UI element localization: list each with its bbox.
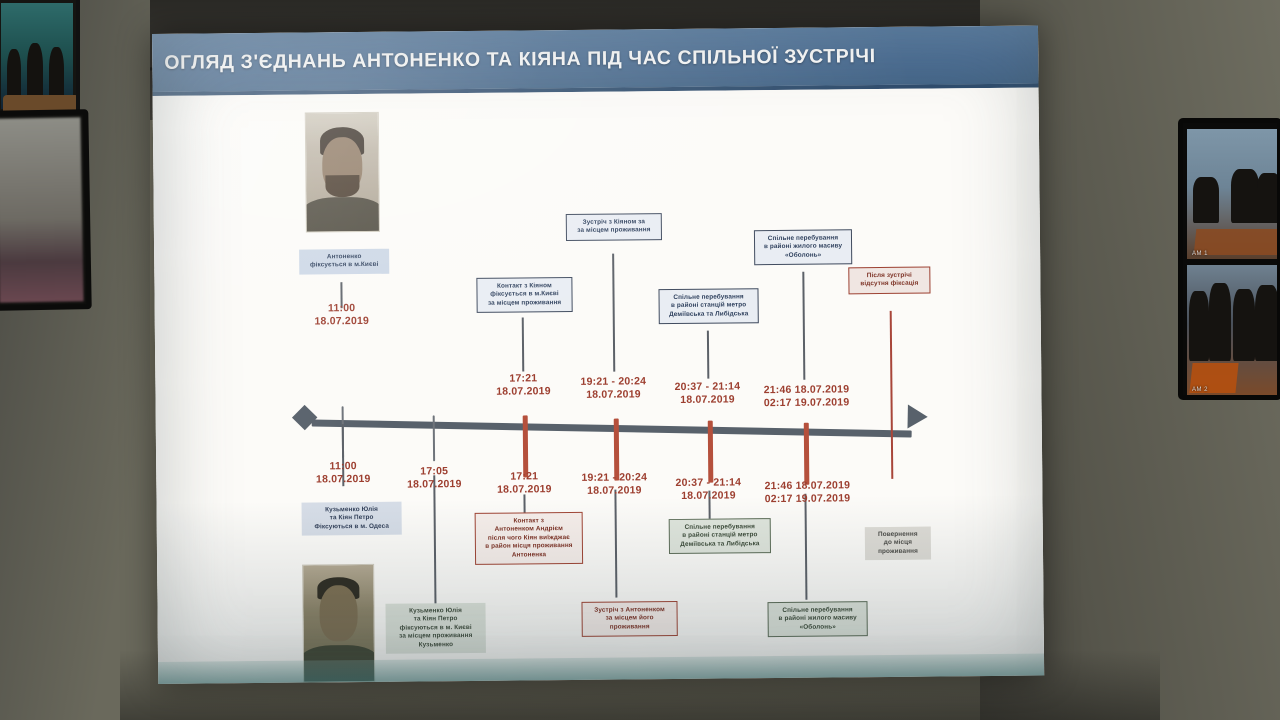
note-obolon-bottom: Спільне перебування в районі жилого маси… — [767, 601, 867, 637]
tick-5 — [708, 421, 714, 483]
leader-a2 — [522, 317, 524, 371]
note-contact-antonenko: Контакт з Антоненком Андрієм після чого … — [475, 512, 583, 565]
date-value: 18.07.2019 — [562, 484, 666, 498]
time-label-bottom-3: 17:21 18.07.2019 — [478, 470, 570, 497]
note-no-fixation-after: Після зустрічі відсутня фіксація — [848, 267, 930, 295]
note-line: в районі жилого масиву — [760, 243, 846, 252]
cctv-pane-2: AM 2 — [1187, 265, 1280, 395]
tick-2 — [433, 415, 435, 461]
time-value: 17:21 — [478, 470, 570, 484]
note-metro-area-bottom: Спільне перебування в районі станцій мет… — [669, 518, 771, 554]
time-value: 17:05 — [388, 465, 480, 479]
time-label-top-2: 17:21 18.07.2019 — [477, 372, 569, 399]
leader-b2 — [433, 475, 436, 605]
time-label-top-1: 11:00 18.07.2019 — [296, 302, 388, 329]
note-line: в район місця проживання — [481, 542, 577, 551]
note-meeting-kiyan: Зустріч з Кіяном за за місцем проживання — [566, 213, 662, 241]
note-meeting-antonenko: Зустріч з Антоненком за місцем його прож… — [581, 601, 677, 637]
cctv-monitor: AM 1 AM 2 — [1178, 118, 1280, 400]
note-line: за місцем проживання — [483, 299, 567, 308]
leader-b4 — [614, 490, 617, 598]
time-label-bottom-6: 21:46 18.07.2019 02:17 19.07.2019 — [750, 479, 864, 506]
leader-a4 — [707, 331, 709, 379]
date-value: 18.07.2019 — [297, 473, 389, 487]
projection-screen: ОГЛЯД З'ЄДНАНЬ АНТОНЕНКО ТА КІЯНА ПІД ЧА… — [152, 25, 1044, 683]
time-label-bottom-1: 11:00 18.07.2019 — [297, 460, 389, 487]
time-label-bottom-4: 19:21 - 20:24 18.07.2019 — [562, 471, 666, 498]
time-value: 20:37 - 21:14 — [655, 380, 759, 394]
tick-3 — [523, 415, 529, 477]
note-line: в районі жилого масиву — [774, 615, 862, 624]
time-value: 21:46 18.07.2019 — [749, 383, 863, 397]
note-line: за місцем проживання — [572, 227, 656, 236]
note-line: проживання — [588, 623, 672, 632]
note-metro-area-top: Спільне перебування в районі станцій мет… — [658, 288, 758, 324]
courtroom-scene: AM 1 AM 2 ОГЛЯД З'ЄДНАНЬ АНТОНЕНКО ТА КІ… — [0, 0, 1280, 720]
slide-title-bar: ОГЛЯД З'ЄДНАНЬ АНТОНЕНКО ТА КІЯНА ПІД ЧА… — [152, 25, 1039, 92]
note-odesa: Кузьменко Юлія та Кіян Петро Фіксуються … — [302, 502, 402, 536]
slide-title: ОГЛЯД З'ЄДНАНЬ АНТОНЕНКО ТА КІЯНА ПІД ЧА… — [152, 45, 876, 75]
time-label-bottom-5: 20:37 - 21:14 18.07.2019 — [656, 476, 760, 503]
timeline-axis — [312, 419, 912, 437]
time-label-top-3: 19:21 - 20:24 18.07.2019 — [561, 375, 665, 402]
date-value: 18.07.2019 — [656, 489, 760, 503]
time-label-bottom-2: 17:05 18.07.2019 — [388, 465, 480, 492]
note-line: Антоненка — [481, 551, 577, 560]
time-value: 21:46 18.07.2019 — [750, 479, 864, 493]
note-line: «Оболонь» — [774, 623, 862, 632]
note-kyiv-kuzmenko: Кузьменко Юлія та Кіян Петро фіксуються … — [385, 603, 485, 654]
time-value: 19:21 - 20:24 — [561, 375, 665, 389]
left-upper-monitor-screen — [1, 3, 73, 109]
time-value: 20:37 - 21:14 — [656, 476, 760, 490]
date-value: 18.07.2019 — [478, 483, 570, 497]
left-lower-monitor — [0, 109, 92, 311]
time-label-top-5: 21:46 18.07.2019 02:17 19.07.2019 — [749, 383, 863, 410]
note-line: відсутня фіксація — [854, 280, 924, 289]
note-line: проживання — [870, 547, 926, 556]
date-value: 18.07.2019 — [388, 478, 480, 492]
leader-a5 — [802, 272, 805, 380]
presentation-slide: ОГЛЯД З'ЄДНАНЬ АНТОНЕНКО ТА КІЯНА ПІД ЧА… — [152, 25, 1044, 661]
note-line: Деміївська та Либідська — [675, 540, 765, 549]
date-value: 02:17 19.07.2019 — [750, 492, 864, 506]
photo-antonenko — [305, 112, 380, 233]
time-value: 17:21 — [477, 372, 569, 386]
leader-b6 — [804, 494, 807, 600]
note-contact-kiyan: Контакт з Кіяном фіксується в м.Києві за… — [476, 277, 572, 313]
note-line: фіксується в м.Києві — [304, 261, 384, 270]
date-value: 18.07.2019 — [561, 388, 665, 402]
note-obolon-top: Спільне перебування в районі жилого маси… — [754, 229, 852, 265]
time-value: 11:00 — [296, 302, 388, 316]
cctv-pane-1: AM 1 — [1187, 129, 1280, 259]
cctv-pane-1-label: AM 1 — [1192, 251, 1208, 257]
time-label-top-4: 20:37 - 21:14 18.07.2019 — [655, 380, 759, 407]
leader-a6 — [890, 311, 894, 479]
time-value: 11:00 — [297, 460, 389, 474]
left-lower-monitor-screen — [0, 117, 84, 302]
note-line: за місцем проживання — [391, 632, 481, 641]
date-value: 18.07.2019 — [296, 315, 388, 329]
date-value: 18.07.2019 — [477, 385, 569, 399]
leader-a3 — [612, 254, 615, 372]
note-line: «Оболонь» — [760, 251, 846, 260]
timeline-right-arrow — [907, 404, 927, 428]
date-value: 02:17 19.07.2019 — [750, 396, 864, 410]
cctv-pane-2-label: AM 2 — [1192, 387, 1208, 393]
slide-canvas: Антоненко фіксується в м.Києві Контакт з… — [153, 87, 1044, 661]
note-antonenko-kyiv: Антоненко фіксується в м.Києві — [299, 249, 389, 275]
date-value: 18.07.2019 — [655, 393, 759, 407]
note-line: Фіксуються в м. Одеса — [307, 522, 397, 531]
note-line: Деміївська та Либідська — [665, 310, 753, 319]
left-upper-monitor — [0, 0, 80, 116]
tick-6 — [804, 423, 810, 485]
time-value: 19:21 - 20:24 — [562, 471, 666, 485]
note-line: Кузьменко — [391, 640, 481, 649]
note-return-home: Повернення до місця проживання — [865, 527, 931, 561]
